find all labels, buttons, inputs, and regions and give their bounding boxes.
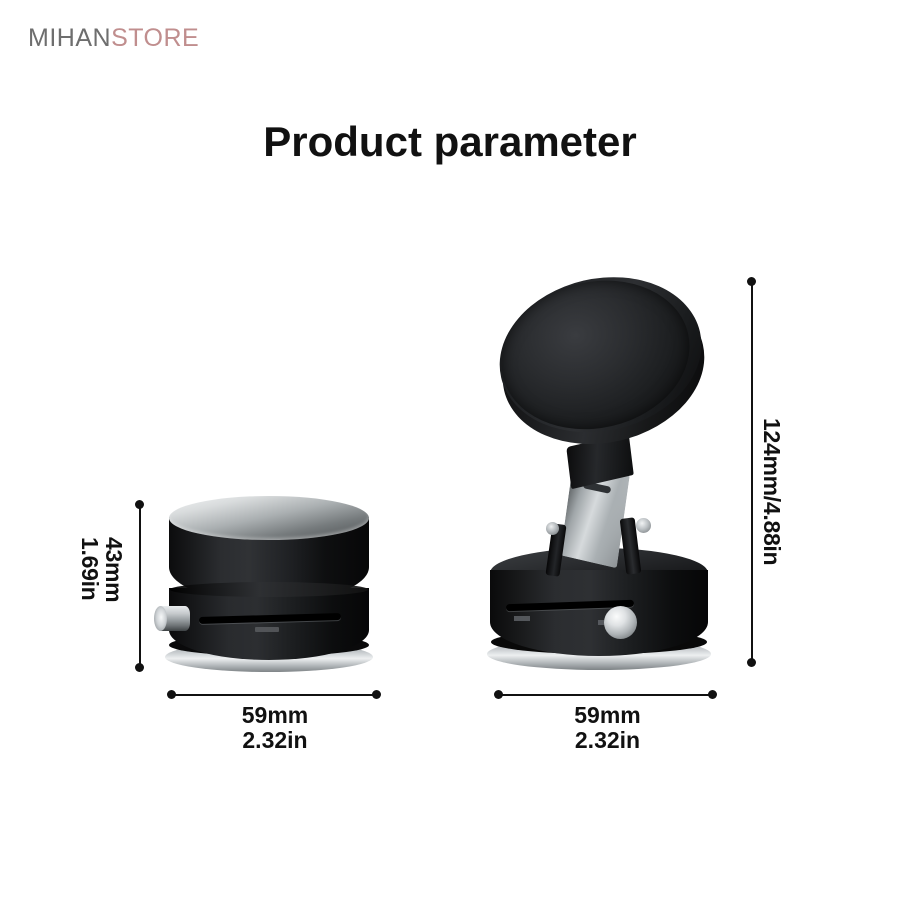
product-image-folded <box>163 496 381 676</box>
dimension-label-unfolded-height: 124mm/4.88in <box>758 418 785 565</box>
dimension-line-folded-height <box>139 504 141 667</box>
unfolded-port-marking-left <box>514 616 530 621</box>
hinge-pivot-right <box>636 518 651 533</box>
dimension-dot-folded-width-right <box>372 690 381 699</box>
brand-logo: MIHANSTORE <box>28 24 199 53</box>
dimension-line-unfolded-width <box>499 694 713 696</box>
brand-logo-primary: MIHAN <box>28 24 111 52</box>
product-parameter-page: MIHANSTORE Product parameter <box>0 0 900 900</box>
dimension-label-folded-width: 59mm2.32in <box>175 703 375 753</box>
dimension-label-unfolded-width-mm: 59mm <box>574 702 640 728</box>
dimension-dot-unfolded-width-left <box>494 690 503 699</box>
hinge-pivot-left <box>546 522 559 535</box>
dimension-line-unfolded-height <box>751 285 753 662</box>
dimension-dot-folded-height-bottom <box>135 663 144 672</box>
product-image-unfolded <box>490 272 720 680</box>
dimension-label-folded-width-in: 2.32in <box>242 727 307 753</box>
page-title: Product parameter <box>0 118 900 166</box>
folded-lower-body <box>169 588 369 660</box>
dimension-label-folded-height-mm: 43mm <box>100 537 127 602</box>
folded-port-marking <box>255 627 279 632</box>
dimension-dot-unfolded-height-top <box>747 277 756 286</box>
folded-side-knob-face <box>154 606 167 631</box>
dimension-dot-unfolded-height-bottom <box>747 658 756 667</box>
dimension-label-folded-width-mm: 59mm <box>242 702 308 728</box>
brand-logo-secondary: STORE <box>111 24 199 52</box>
folded-seam-line <box>170 582 368 597</box>
dimension-label-folded-height-in: 1.69in <box>76 537 103 600</box>
unfolded-side-knob <box>604 606 637 639</box>
magnetic-head-face <box>486 262 704 447</box>
dimension-label-unfolded-width: 59mm2.32in <box>505 703 710 753</box>
magnetic-head-body <box>484 258 717 452</box>
dimension-line-folded-width <box>172 694 377 696</box>
unfolded-base-body <box>490 570 708 656</box>
folded-top-disc <box>169 496 369 540</box>
dimension-dot-unfolded-width-right <box>708 690 717 699</box>
magnetic-head <box>479 250 732 488</box>
dimension-label-unfolded-width-in: 2.32in <box>575 727 640 753</box>
dimension-dot-folded-height-top <box>135 500 144 509</box>
dimension-dot-folded-width-left <box>167 690 176 699</box>
